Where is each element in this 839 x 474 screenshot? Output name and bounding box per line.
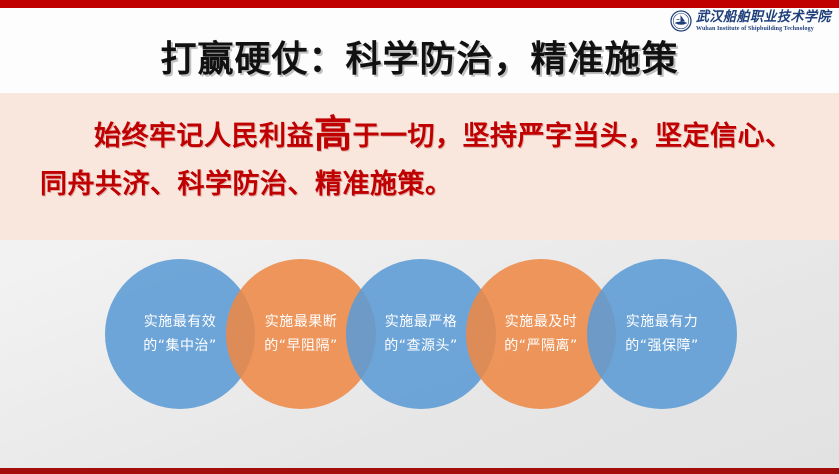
venn-circle-1-line1: 实施最有效 [144, 310, 217, 334]
venn-circle-4-line2: 的“严隔离” [504, 334, 578, 358]
venn-circle-3-line2: 的“查源头” [384, 334, 458, 358]
bottom-red-rule [0, 468, 839, 474]
venn-circle-4-line1: 实施最及时 [505, 310, 578, 334]
quote-panel: 始终牢记人民利益高于一切，坚持严字当头，坚定信心、同舟共济、科学防治、精准施策。 [0, 93, 839, 240]
quote-line1-part-b: 于一切，坚持严字当头，坚定信 [353, 121, 738, 152]
logo-text-block: 武汉船舶职业技术学院 Wuhan Institute of Shipbuildi… [696, 11, 831, 32]
page-title: 打赢硬仗：科学防治，精准施策 [0, 30, 839, 82]
venn-circle-2-line1: 实施最果断 [265, 310, 338, 334]
quote-line1-part-a: 始终牢记人民利益 [94, 121, 314, 152]
venn-circle-3-line1: 实施最严格 [385, 310, 458, 334]
quote-text: 始终牢记人民利益高于一切，坚持严字当头，坚定信心、同舟共济、科学防治、精准施策。 [40, 113, 799, 209]
logo-name-cn: 武汉船舶职业技术学院 [696, 10, 831, 24]
venn-circle-1-line2: 的“集中治” [143, 334, 217, 358]
venn-circle-2-line2: 的“早阻隔” [264, 334, 338, 358]
quote-emphasis-char: 高 [314, 111, 353, 156]
venn-circle-5: 实施最有力 的“强保障” [587, 259, 737, 409]
venn-diagram: 实施最有效 的“集中治” 实施最果断 的“早阻隔” 实施最严格 的“查源头” 实… [105, 259, 737, 409]
top-red-rule [0, 0, 839, 8]
venn-circle-5-line2: 的“强保障” [625, 334, 699, 358]
institution-logo: 武汉船舶职业技术学院 Wuhan Institute of Shipbuildi… [670, 10, 831, 32]
venn-circle-5-line1: 实施最有力 [626, 310, 699, 334]
presentation-slide: 武汉船舶职业技术学院 Wuhan Institute of Shipbuildi… [0, 0, 839, 474]
university-seal-icon [670, 10, 692, 32]
